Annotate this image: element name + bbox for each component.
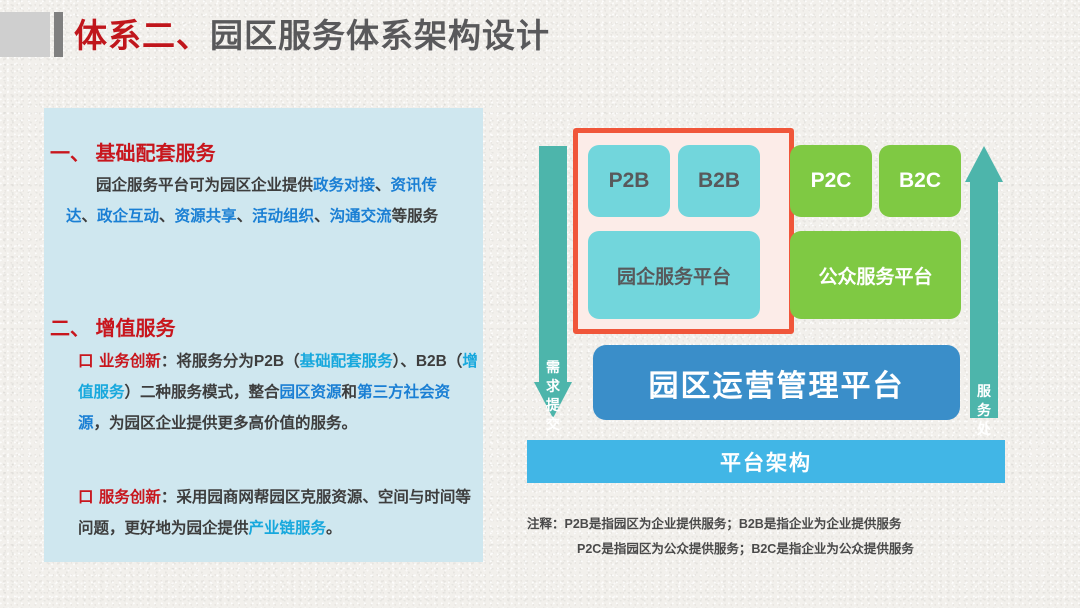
bullet-title: 服务创新 bbox=[99, 489, 161, 506]
text-run: 政务对接 bbox=[313, 177, 375, 194]
vertical-char: 交 bbox=[534, 415, 572, 434]
text-run: 产业链服务 bbox=[249, 520, 327, 537]
vertical-char: 务 bbox=[965, 401, 1003, 420]
bullet-marker-icon: 口 bbox=[78, 352, 99, 370]
text-run: 、 bbox=[159, 208, 175, 225]
text-run: 基础配套服务 bbox=[300, 353, 393, 370]
bullet-service-innovation: 口 服务创新：采用园商网帮园区克服资源、空间与时间等问题，更好地为园企提供产业链… bbox=[78, 482, 478, 544]
service-process-arrow: 服务处理 bbox=[965, 146, 1003, 418]
header-grey-block bbox=[0, 12, 50, 57]
vertical-char: 提 bbox=[534, 396, 572, 415]
text-run: 园区资源 bbox=[280, 384, 342, 401]
bar-park-operation-platform[interactable]: 园区运营管理平台 bbox=[593, 345, 960, 420]
text-run: 活动组织 bbox=[252, 208, 314, 225]
text-run: 、 bbox=[82, 208, 98, 225]
text-run: 等服务 bbox=[392, 208, 439, 225]
text-run: 。 bbox=[326, 520, 342, 537]
footnote-prefix: 注释： bbox=[527, 517, 565, 531]
text-run: 政企互动 bbox=[97, 208, 159, 225]
page-title-red: 体系二、 bbox=[74, 17, 210, 54]
text-run: ）二种服务模式，整合 bbox=[125, 384, 280, 401]
tile-b2b[interactable]: B2B bbox=[678, 145, 760, 217]
vertical-char: 求 bbox=[534, 377, 572, 396]
tile-p2c[interactable]: P2C bbox=[790, 145, 872, 217]
page-title-grey: 园区服务体系架构设计 bbox=[210, 17, 550, 54]
footnote-line-1: P2B是指园区为企业提供服务；B2B是指企业为企业提供服务 bbox=[565, 517, 902, 531]
diagram-footnote: 注释：P2B是指园区为企业提供服务；B2B是指企业为企业提供服务 P2C是指园区… bbox=[527, 512, 1007, 562]
text-run: 沟通交流 bbox=[330, 208, 392, 225]
bullet-title: 业务创新 bbox=[99, 353, 161, 370]
arrow-head-up-icon bbox=[965, 146, 1003, 182]
section-1-body: 园企服务平台可为园区企业提供政务对接、资讯传达、政企互动、资源共享、活动组织、沟… bbox=[66, 170, 466, 232]
footnote-line-2: P2C是指园区为公众提供服务；B2C是指企业为公众提供服务 bbox=[527, 537, 1007, 562]
tile-p2b[interactable]: P2B bbox=[588, 145, 670, 217]
arrow-shaft bbox=[539, 146, 567, 384]
tile-public-service-platform[interactable]: 公众服务平台 bbox=[790, 231, 961, 319]
text-run: ）、B2B（ bbox=[393, 353, 463, 370]
header-accent-bar bbox=[54, 12, 63, 57]
text-run: 和 bbox=[342, 384, 358, 401]
page-title: 体系二、园区服务体系架构设计 bbox=[74, 9, 550, 57]
demand-submit-label: 需求提交 bbox=[534, 358, 572, 434]
bullet-marker-icon: 口 bbox=[78, 488, 99, 506]
text-run: 资源共享 bbox=[175, 208, 237, 225]
vertical-char: 处 bbox=[965, 420, 1003, 439]
bar-platform-architecture[interactable]: 平台架构 bbox=[527, 440, 1005, 483]
demand-submit-arrow: 需求提交 bbox=[534, 146, 572, 418]
bullet-business-innovation: 口 业务创新：将服务分为P2B（基础配套服务）、B2B（增值服务）二种服务模式，… bbox=[78, 346, 478, 439]
text-run: ，为园区企业提供更多高价值的服务。 bbox=[94, 415, 358, 432]
text-run: 、 bbox=[375, 177, 391, 194]
section-1-heading: 一、 基础配套服务 bbox=[50, 137, 216, 166]
tile-b2c[interactable]: B2C bbox=[879, 145, 961, 217]
section-2-heading: 二、 增值服务 bbox=[50, 312, 176, 341]
text-run: 、 bbox=[314, 208, 330, 225]
tile-enterprise-service-platform[interactable]: 园企服务平台 bbox=[588, 231, 760, 319]
vertical-char: 服 bbox=[965, 382, 1003, 401]
text-run: ：将服务分为P2B（ bbox=[161, 353, 300, 370]
text-run: 、 bbox=[237, 208, 253, 225]
text-run: 园企服务平台可为园区企业提供 bbox=[96, 177, 313, 194]
vertical-char: 需 bbox=[534, 358, 572, 377]
